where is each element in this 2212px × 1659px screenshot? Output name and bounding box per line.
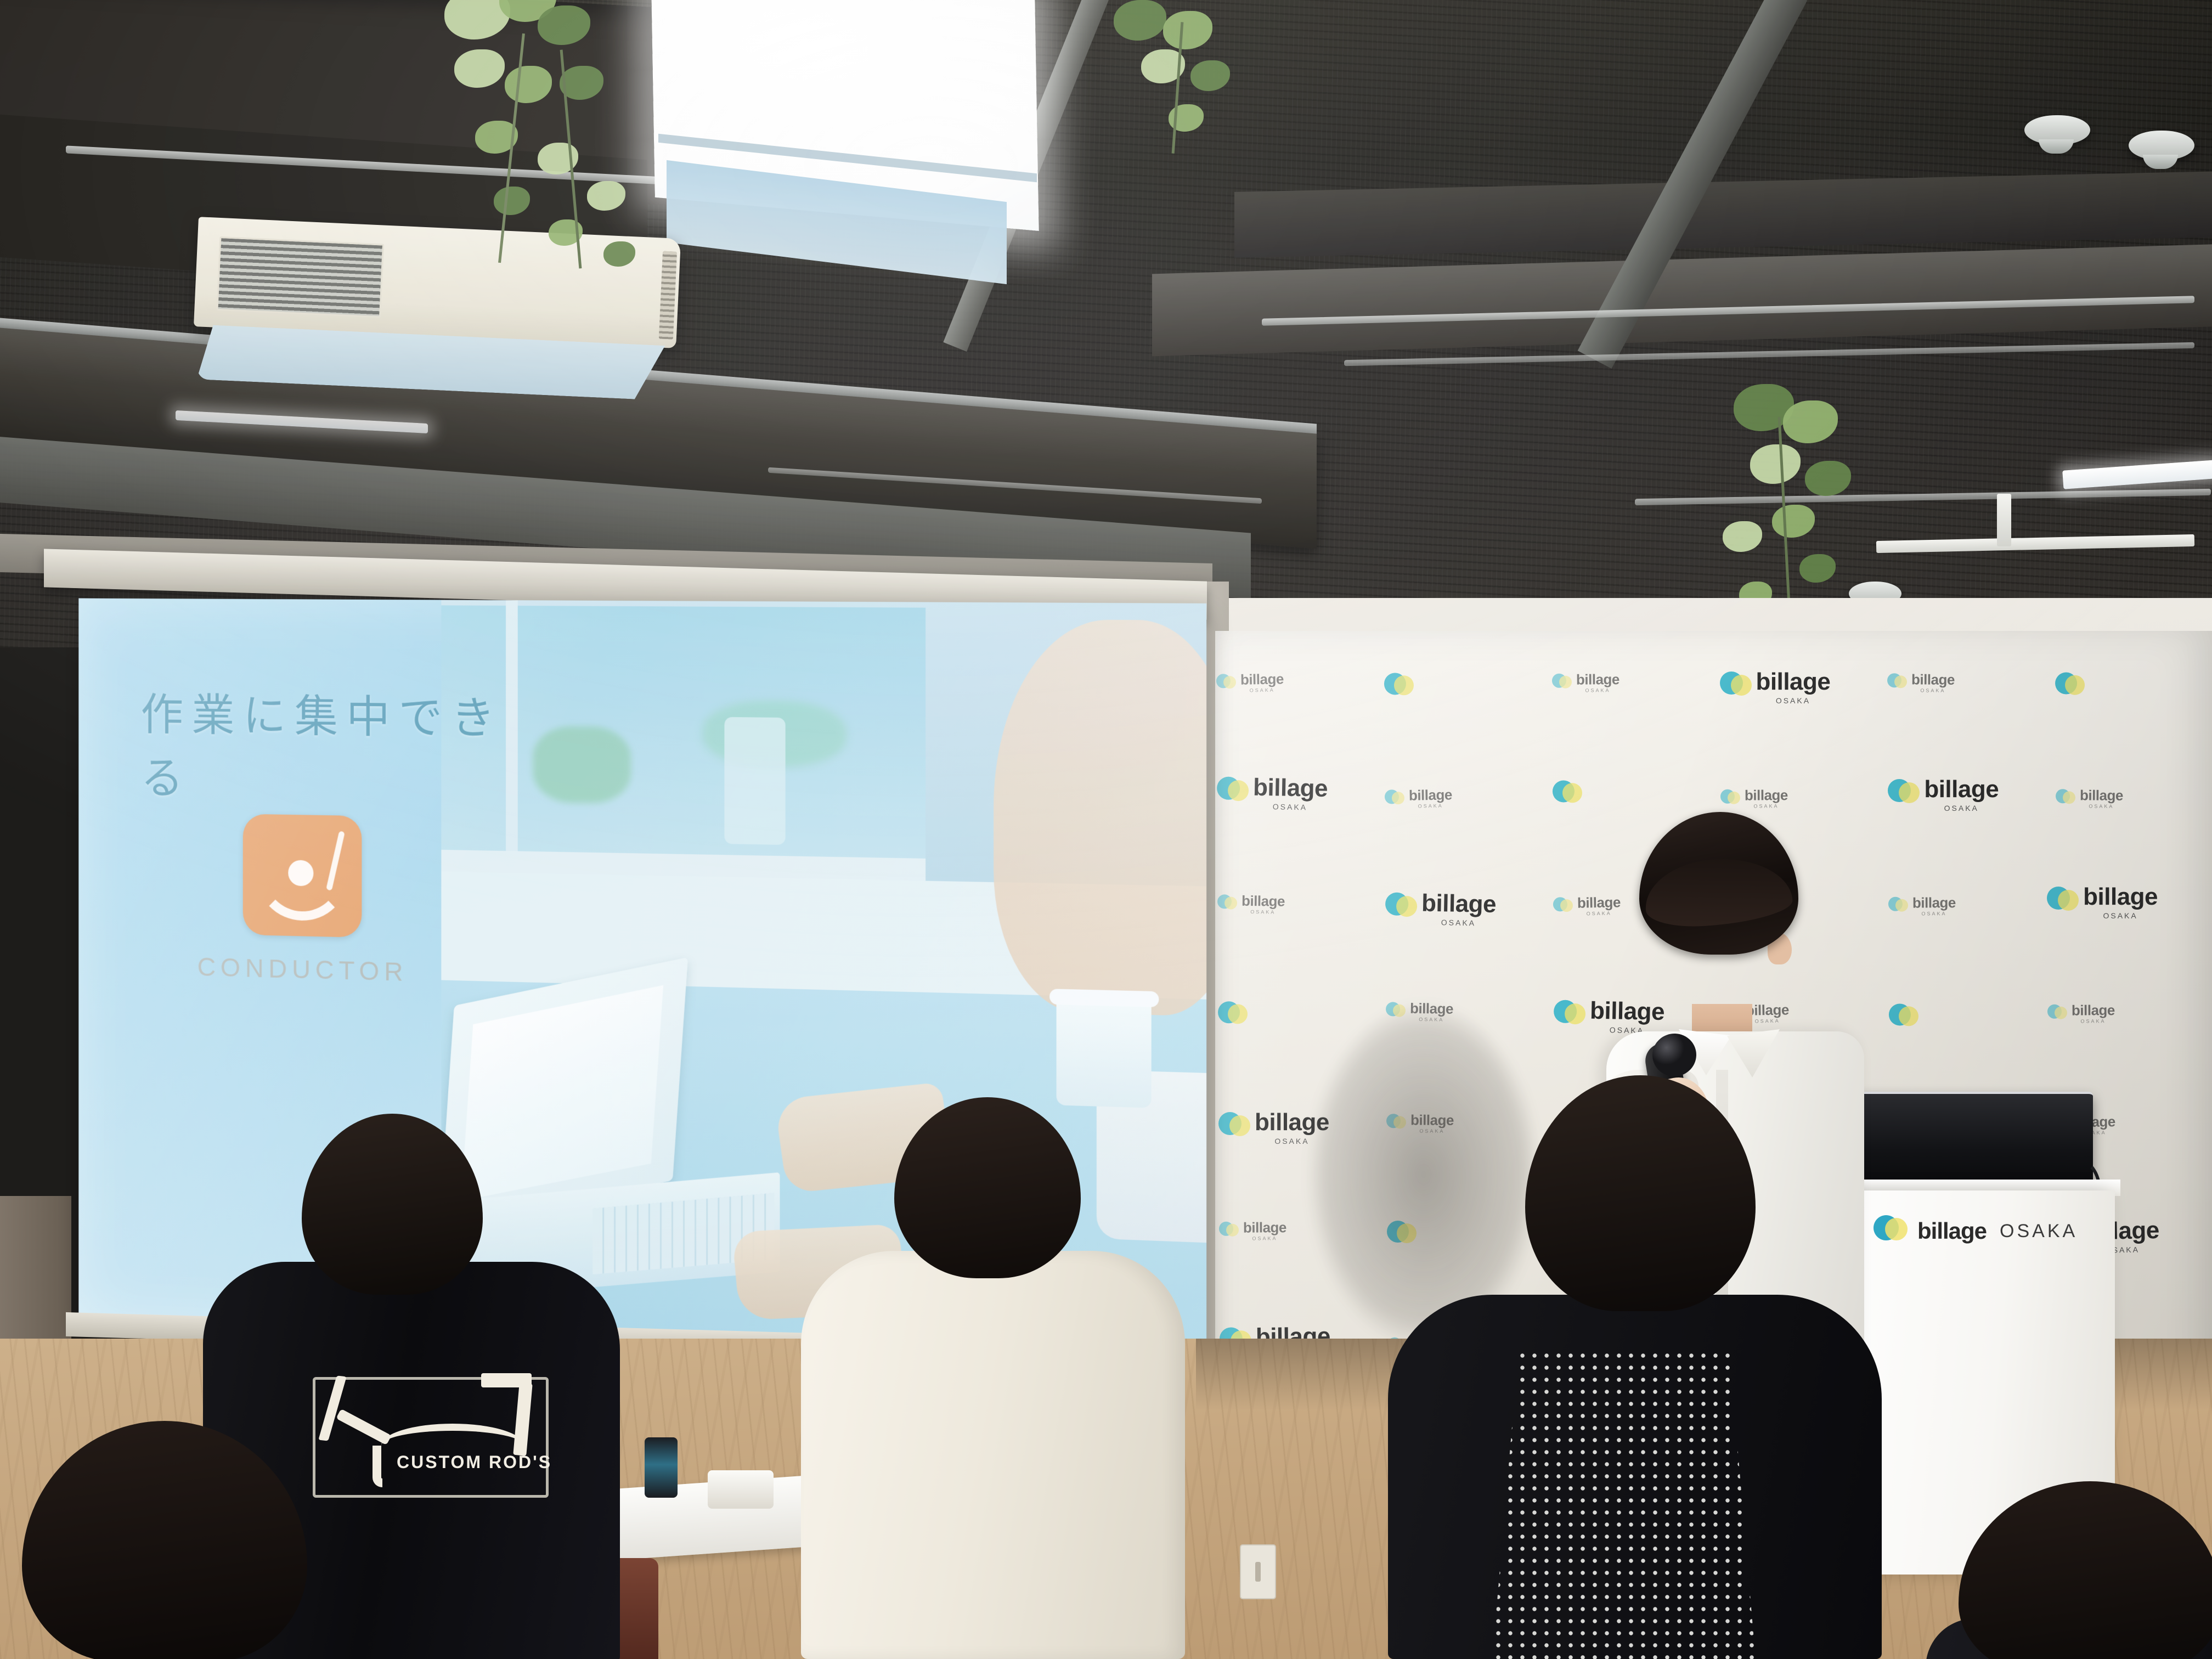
backdrop-brand-text: billage	[1421, 891, 1497, 916]
backdrop-brand-text: billage	[1576, 672, 1620, 686]
podium-city-text: OSAKA	[2000, 1221, 2078, 1242]
backdrop-city-text: OSAKA	[1441, 918, 1476, 927]
billage-circles-icon	[1888, 897, 1907, 916]
backdrop-logo-wordmark: billageOSAKA	[1911, 672, 1955, 693]
backdrop-logo-wordmark: billageOSAKA	[1242, 894, 1285, 915]
backdrop-city-text: OSAKA	[1922, 911, 1947, 916]
backdrop-logo-tile: billageOSAKA	[2050, 743, 2212, 854]
backdrop-city-text: OSAKA	[2089, 804, 2114, 809]
billage-circles-icon	[1552, 674, 1571, 692]
backdrop-logo-wordmark: billageOSAKA	[2080, 788, 2123, 809]
billage-circles-icon	[1889, 1003, 1918, 1032]
backdrop-logo-wordmark: billageOSAKA	[1252, 775, 1328, 811]
backdrop-logo-tile: billageOSAKA	[2041, 847, 2208, 957]
attendee-dotted-right	[1388, 1075, 1882, 1659]
billage-circles-icon	[1385, 789, 1404, 809]
backdrop-logo-wordmark: billageOSAKA	[1408, 787, 1452, 809]
backdrop-brand-text: billage	[1924, 777, 1999, 802]
backdrop-logo-tile: billageOSAKA	[1882, 740, 2049, 849]
billage-circles-icon	[1218, 1001, 1246, 1030]
backdrop-brand-text: billage	[2083, 885, 2158, 909]
hoodie-print-text: CUSTOM ROD'S	[397, 1452, 552, 1472]
backdrop-logo-tile: billageOSAKA	[2042, 958, 2209, 1069]
backdrop-logo-tile: billageOSAKA	[1883, 961, 2050, 1073]
slide-photo-bottle	[724, 717, 785, 845]
attendee-head	[1525, 1075, 1756, 1311]
billage-mark-circle-yellow	[2058, 890, 2079, 911]
billage-mark-circle-yellow	[1223, 676, 1236, 689]
backdrop-brand-text: billage	[2072, 1003, 2115, 1017]
billage-circles-icon	[1888, 779, 1918, 810]
billage-mark-circle-yellow	[2065, 675, 2085, 695]
attendee-top	[801, 1251, 1185, 1659]
attendee-foreground-right	[1926, 1481, 2212, 1659]
billage-circles-icon	[1218, 1112, 1249, 1143]
billage-mark-circle-yellow	[1392, 792, 1404, 804]
backdrop-logo-tile: billageOSAKA	[1215, 737, 1379, 850]
backdrop-brand-text: billage	[1242, 894, 1285, 909]
backdrop-logo-wordmark: billageOSAKA	[2083, 885, 2158, 919]
backdrop-brand-text: billage	[1240, 672, 1284, 686]
wall-outlet	[1240, 1544, 1276, 1599]
billage-circles-icon	[1720, 789, 1739, 808]
hoodie-graphic-print: CUSTOM ROD'S	[313, 1377, 549, 1498]
backdrop-logo-wordmark: billageOSAKA	[1756, 670, 1831, 704]
ceiling-spot-light[interactable]	[2024, 115, 2090, 145]
ceiling-spot-light[interactable]	[2129, 131, 2194, 160]
attendee-head	[894, 1097, 1081, 1278]
backdrop-logo-tile: billageOSAKA	[1378, 741, 1546, 854]
backdrop-city-text: OSAKA	[1250, 910, 1276, 915]
billage-circles-icon	[1217, 776, 1248, 808]
attendee-shirt-dot-pattern	[1492, 1350, 1756, 1659]
billage-mark-circle-yellow	[1899, 782, 1920, 803]
billage-circles-icon	[2056, 789, 2074, 808]
attendee-cream-center	[801, 1097, 1185, 1659]
billage-mark-circle-yellow	[1224, 896, 1237, 909]
billage-circles-icon	[2055, 672, 2084, 701]
track-light-stem	[1997, 494, 2011, 546]
backdrop-logo-wordmark: billageOSAKA	[1744, 788, 1787, 809]
backdrop-logo-tile: billageOSAKA	[1546, 631, 1713, 738]
backdrop-logo-wordmark: billageOSAKA	[2072, 1003, 2115, 1024]
backdrop-logo-wordmark: billageOSAKA	[1924, 777, 1999, 812]
paper-cup[interactable]	[708, 1470, 774, 1509]
backdrop-logo-tile: billageOSAKA	[2049, 631, 2212, 743]
billage-circles-icon	[1385, 892, 1416, 923]
billage-mark-circle-yellow	[1394, 675, 1414, 695]
billage-circles-icon	[1552, 780, 1581, 809]
billage-circles-icon	[1887, 673, 1906, 692]
billage-circles-icon	[2047, 1005, 2066, 1023]
billage-mark-circle-yellow	[2063, 791, 2075, 804]
billage-mark-circle-yellow	[1885, 1218, 1908, 1240]
backdrop-logo-wordmark: billageOSAKA	[1421, 891, 1496, 927]
billage-mark-circle-yellow	[1899, 1006, 1918, 1026]
backdrop-brand-text: billage	[1744, 788, 1787, 802]
slide-app-name: CONDUCTOR	[176, 951, 430, 988]
billage-mark-circle-yellow	[1894, 675, 1907, 688]
backdrop-logo-wordmark: billageOSAKA	[1576, 672, 1620, 693]
attendee-head	[22, 1421, 307, 1659]
billage-circles-icon	[1216, 674, 1235, 693]
billage-mark-circle-yellow	[1731, 675, 1752, 696]
backdrop-city-text: OSAKA	[1921, 689, 1946, 693]
backdrop-logo-wordmark: billageOSAKA	[1240, 672, 1284, 693]
billage-mark-circle-yellow	[2055, 1007, 2067, 1019]
water-bottle[interactable]	[645, 1437, 678, 1498]
billage-circles-icon	[2047, 887, 2078, 917]
backdrop-city-text: OSAKA	[1418, 804, 1443, 809]
podium-logo: billage OSAKA	[1874, 1215, 2078, 1247]
backdrop-city-text: OSAKA	[1776, 697, 1810, 704]
billage-mark-circle-yellow	[1559, 676, 1572, 689]
attendee-head	[1959, 1481, 2212, 1659]
projector-vent-grille	[216, 236, 384, 318]
backdrop-city-text: OSAKA	[1944, 804, 1979, 812]
backdrop-city-text: OSAKA	[2081, 1019, 2106, 1024]
backdrop-logo-tile: billageOSAKA	[1883, 850, 2050, 961]
turntable-spindle-dot	[288, 860, 313, 886]
backdrop-city-text: OSAKA	[1753, 804, 1779, 809]
billage-mark-circle-yellow	[1228, 780, 1249, 802]
turntable-record-icon	[242, 814, 362, 938]
backdrop-brand-text: billage	[1756, 670, 1831, 694]
backdrop-logo-wordmark: billageOSAKA	[1912, 895, 1956, 916]
billage-mark-circle-yellow	[1562, 783, 1582, 803]
slide-headline: 作業に集中できる	[140, 679, 544, 812]
backdrop-logo-tile: billageOSAKA	[1882, 631, 2049, 738]
billage-circles-icon	[1217, 894, 1236, 913]
slide-app-branding: CONDUCTOR	[176, 813, 430, 988]
billage-mark-circle-yellow	[1895, 899, 1908, 912]
backdrop-logo-tile: billageOSAKA	[1379, 853, 1547, 966]
backdrop-city-text: OSAKA	[1273, 803, 1307, 811]
hanging-plant-left	[422, 0, 680, 335]
backdrop-brand-text: billage	[1912, 895, 1956, 910]
backdrop-city-text: OSAKA	[2103, 912, 2137, 919]
slide-photo-coffee-cup	[1057, 996, 1152, 1108]
backdrop-brand-text: billage	[1911, 672, 1955, 686]
backdrop-logo-tile: billageOSAKA	[1215, 631, 1378, 738]
billage-circles-icon	[1553, 897, 1572, 916]
billage-circles-icon	[1720, 672, 1751, 702]
print-glyph	[318, 1375, 346, 1441]
podium-brand-text: billage	[1917, 1218, 1987, 1244]
backdrop-logo-wordmark: billageOSAKA	[1243, 1220, 1286, 1241]
billage-mark-circle-yellow	[1727, 792, 1740, 804]
slide-photo-person	[994, 619, 1206, 1017]
backdrop-city-text: OSAKA	[1250, 688, 1275, 693]
backdrop-logo-tile: billageOSAKA	[1714, 632, 1881, 742]
billage-mark-circle-yellow	[1560, 899, 1572, 912]
backdrop-brand-text: billage	[1408, 787, 1452, 802]
backdrop-city-text: OSAKA	[1585, 688, 1610, 693]
billage-mark-circle-yellow	[1229, 1115, 1250, 1136]
slide-photo-foliage	[533, 726, 631, 804]
attendee-foreground-left	[22, 1421, 307, 1659]
attendee-head	[302, 1114, 483, 1295]
backdrop-brand-text: billage	[2080, 788, 2123, 802]
presentation-room-photo: billageOSAKAbillageOSAKAbillageOSAKAbill…	[0, 0, 2212, 1659]
billage-mark-circle-yellow	[1228, 1004, 1248, 1024]
hanging-plant-center	[1108, 0, 1295, 170]
backdrop-logo-tile: billageOSAKA	[1378, 631, 1545, 742]
billage-mark-circle-yellow	[1396, 896, 1418, 917]
backdrop-city-text: OSAKA	[1252, 1236, 1277, 1241]
backdrop-logo-tile: billageOSAKA	[1215, 849, 1379, 961]
billage-mark-circle-yellow	[1226, 1224, 1239, 1237]
billage-circles-icon	[1219, 1222, 1238, 1240]
backdrop-brand-text: billage	[1243, 1220, 1286, 1234]
backdrop-brand-text: billage	[1253, 775, 1328, 800]
billage-circles-icon	[1384, 673, 1413, 702]
slide-photo-cup-lid	[1049, 989, 1159, 1007]
